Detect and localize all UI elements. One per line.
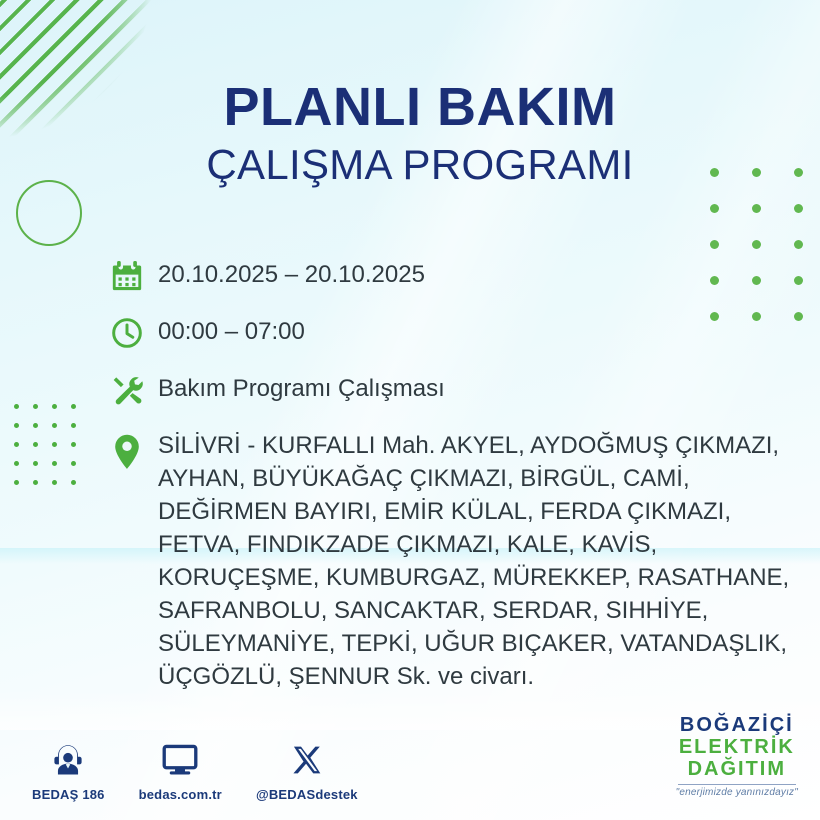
address-line: SÜLEYMANİYE, TEPKİ, UĞUR BIÇAKER, VATAND… [158, 627, 789, 660]
tools-icon [110, 372, 158, 407]
contact-twitter-label: @BEDASdestek [256, 787, 358, 802]
logo-line-elektrik: ELEKTRİK [676, 737, 798, 757]
address-line: DEĞİRMEN BAYIRI, EMİR KÜLAL, FERDA ÇIKMA… [158, 495, 789, 528]
address-line: ÜÇGÖZLÜ, ŞENNUR Sk. ve civarı. [158, 660, 789, 693]
info-row-address: SİLİVRİ - KURFALLI Mah. AKYEL, AYDOĞMUŞ … [110, 429, 800, 693]
logo-line-dagitim: DAĞITIM [676, 759, 798, 779]
page-title: PLANLI BAKIM ÇALIŞMA PROGRAMI [0, 78, 820, 190]
info-row-date: 20.10.2025 – 20.10.2025 [110, 258, 800, 293]
title-subtitle: ÇALIŞMA PROGRAMI [0, 140, 820, 190]
dot-grid-left-decoration [14, 404, 90, 499]
logo-divider [678, 784, 796, 785]
address-lines: SİLİVRİ - KURFALLI Mah. AKYEL, AYDOĞMUŞ … [158, 429, 789, 693]
info-row-worktype: Bakım Programı Çalışması [110, 372, 800, 407]
map-pin-icon [110, 429, 158, 471]
address-line: AYHAN, BÜYÜKAĞAÇ ÇIKMAZI, BİRGÜL, CAMİ, [158, 462, 789, 495]
clock-icon [110, 315, 158, 350]
info-row-time: 00:00 – 07:00 [110, 315, 800, 350]
footer: BEDAŞ 186 bedas.com.tr [0, 718, 820, 814]
support-agent-icon [51, 739, 85, 781]
contact-phone[interactable]: BEDAŞ 186 [32, 739, 105, 802]
logo-line-bogazici: BOĞAZİÇİ [676, 715, 798, 735]
address-line: FETVA, FINDIKZADE ÇIKMAZI, KALE, KAVİS, [158, 528, 789, 561]
title-main: PLANLI BAKIM [0, 78, 820, 136]
address-line: KORUÇEŞME, KUMBURGAZ, MÜREKKEP, RASATHAN… [158, 561, 789, 594]
contact-website[interactable]: bedas.com.tr [139, 739, 222, 802]
contact-phone-label: BEDAŞ 186 [32, 787, 105, 802]
contact-twitter[interactable]: @BEDASdestek [256, 739, 358, 802]
monitor-icon [162, 739, 198, 781]
contact-website-label: bedas.com.tr [139, 787, 222, 802]
x-twitter-icon [291, 739, 323, 781]
poster-canvas: PLANLI BAKIM ÇALIŞMA PROGRAMI 20.10.2025… [0, 0, 820, 820]
address-line: SİLİVRİ - KURFALLI Mah. AKYEL, AYDOĞMUŞ … [158, 429, 789, 462]
contact-list: BEDAŞ 186 bedas.com.tr [32, 739, 358, 802]
address-line: SAFRANBOLU, SANCAKTAR, SERDAR, SIHHİYE, [158, 594, 789, 627]
bedas-logo: BOĞAZİÇİ ELEKTRİK DAĞITIM "enerjimizde y… [676, 715, 798, 798]
info-row-time-text: 00:00 – 07:00 [158, 315, 305, 348]
calendar-icon [110, 258, 158, 293]
info-row-date-text: 20.10.2025 – 20.10.2025 [158, 258, 425, 291]
info-section: 20.10.2025 – 20.10.2025 00:00 – 07:00 Ba… [110, 258, 800, 693]
logo-tagline: "enerjimizde yanınızdayız" [676, 788, 798, 798]
info-row-worktype-text: Bakım Programı Çalışması [158, 372, 445, 405]
